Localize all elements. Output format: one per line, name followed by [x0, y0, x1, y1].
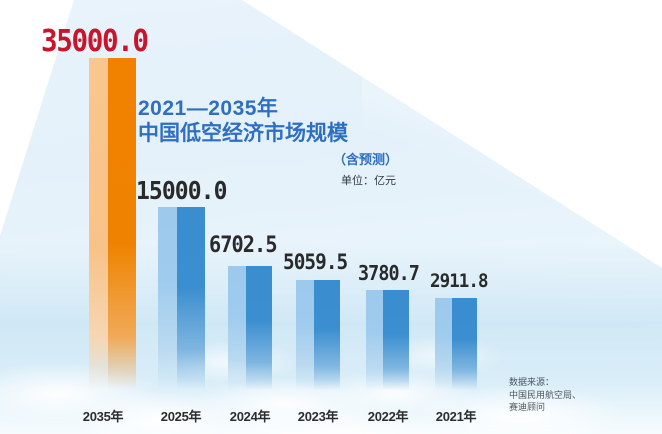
bar-segment-light	[158, 207, 177, 390]
chart-title-block: 2021—2035年 中国低空经济市场规模 （含预测） 单位：亿元	[138, 96, 400, 188]
infographic-chart: 35000.02035年15000.02025年6702.52024年5059.…	[0, 0, 662, 434]
value-label-2022年: 3780.7	[358, 261, 419, 285]
bar-segment-dark	[383, 290, 409, 390]
chart-unit-label: 单位：亿元	[138, 172, 400, 188]
bar-2021年	[435, 298, 477, 390]
bar-segment-light	[435, 298, 452, 390]
bar-segment-dark	[314, 280, 340, 390]
bar-2022年	[366, 290, 409, 390]
bar-2035年	[89, 58, 136, 390]
bar-segment-light	[228, 266, 246, 390]
value-label-2035年: 35000.0	[41, 24, 148, 59]
bar-segment-light	[366, 290, 383, 390]
bar-segment-dark	[452, 298, 477, 390]
bar-segment-light	[89, 58, 108, 390]
bar-plot-area: 35000.02035年15000.02025年6702.52024年5059.…	[0, 0, 662, 434]
value-label-2021年: 2911.8	[430, 270, 488, 292]
value-label-2023年: 5059.5	[283, 250, 347, 274]
bar-segment-dark	[246, 266, 272, 390]
x-axis-label-2035年: 2035年	[67, 406, 139, 425]
bar-2024年	[228, 266, 272, 390]
value-label-2024年: 6702.5	[209, 233, 277, 258]
bar-2023年	[296, 280, 340, 390]
bar-segment-dark	[108, 58, 136, 390]
data-source-note: 数据来源： 中国民用航空局、 赛迪顾问	[509, 376, 581, 414]
chart-title-line1: 2021—2035年	[138, 96, 400, 121]
chart-title-line2: 中国低空经济市场规模	[138, 121, 400, 146]
x-axis-label-2024年: 2024年	[214, 406, 286, 425]
x-axis-label-2022年: 2022年	[352, 406, 424, 425]
bar-segment-dark	[177, 207, 205, 390]
x-axis-label-2023年: 2023年	[282, 406, 354, 425]
x-axis-label-2025年: 2025年	[145, 406, 217, 425]
bar-segment-light	[296, 280, 314, 390]
x-axis-label-2021年: 2021年	[420, 406, 492, 425]
chart-title-note: （含预测）	[138, 149, 400, 168]
bar-2025年	[158, 207, 205, 390]
